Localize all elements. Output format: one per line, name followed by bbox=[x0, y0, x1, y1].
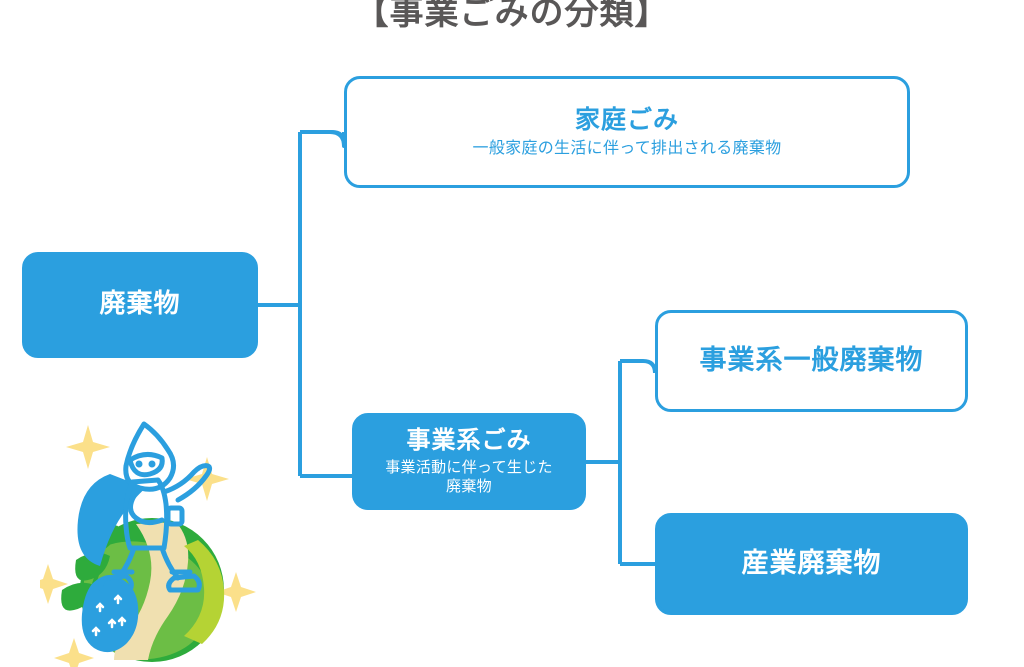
page-title: 【事業ごみの分類】 bbox=[0, 0, 1024, 36]
edge-root-to-katei bbox=[300, 132, 344, 146]
node-jigyokei-gomi[interactable]: 事業系ごみ 事業活動に伴って生じた 廃棄物 bbox=[352, 413, 586, 510]
eco-hero-mascot-icon bbox=[40, 412, 260, 667]
node-jigyokei-ippan-haikibutsu-label: 事業系一般廃棄物 bbox=[700, 345, 924, 376]
edge-root-to-katei-elbow bbox=[300, 132, 344, 144]
node-katei-gomi[interactable]: 家庭ごみ 一般家庭の生活に伴って排出される廃棄物 bbox=[344, 76, 910, 188]
node-haikibutsu[interactable]: 廃棄物 bbox=[22, 252, 258, 358]
diagram-canvas: 【事業ごみの分類】 廃棄物 家庭ごみ 一般家庭の生活 bbox=[0, 0, 1024, 667]
node-katei-gomi-description: 一般家庭の生活に伴って排出される廃棄物 bbox=[473, 138, 782, 158]
node-haikibutsu-label: 廃棄物 bbox=[99, 290, 180, 320]
node-jigyokei-gomi-description-line1: 事業活動に伴って生じた bbox=[385, 458, 553, 477]
node-sangyo-haikibutsu[interactable]: 産業廃棄物 bbox=[655, 513, 968, 615]
node-sangyo-haikibutsu-label: 産業廃棄物 bbox=[742, 548, 882, 579]
node-jigyokei-ippan-haikibutsu[interactable]: 事業系一般廃棄物 bbox=[655, 310, 968, 412]
edge-jigyokei-to-ippan bbox=[620, 361, 655, 373]
node-katei-gomi-label: 家庭ごみ bbox=[575, 106, 679, 135]
node-jigyokei-gomi-description-line2: 廃棄物 bbox=[446, 477, 492, 496]
node-jigyokei-gomi-label: 事業系ごみ bbox=[407, 427, 532, 455]
